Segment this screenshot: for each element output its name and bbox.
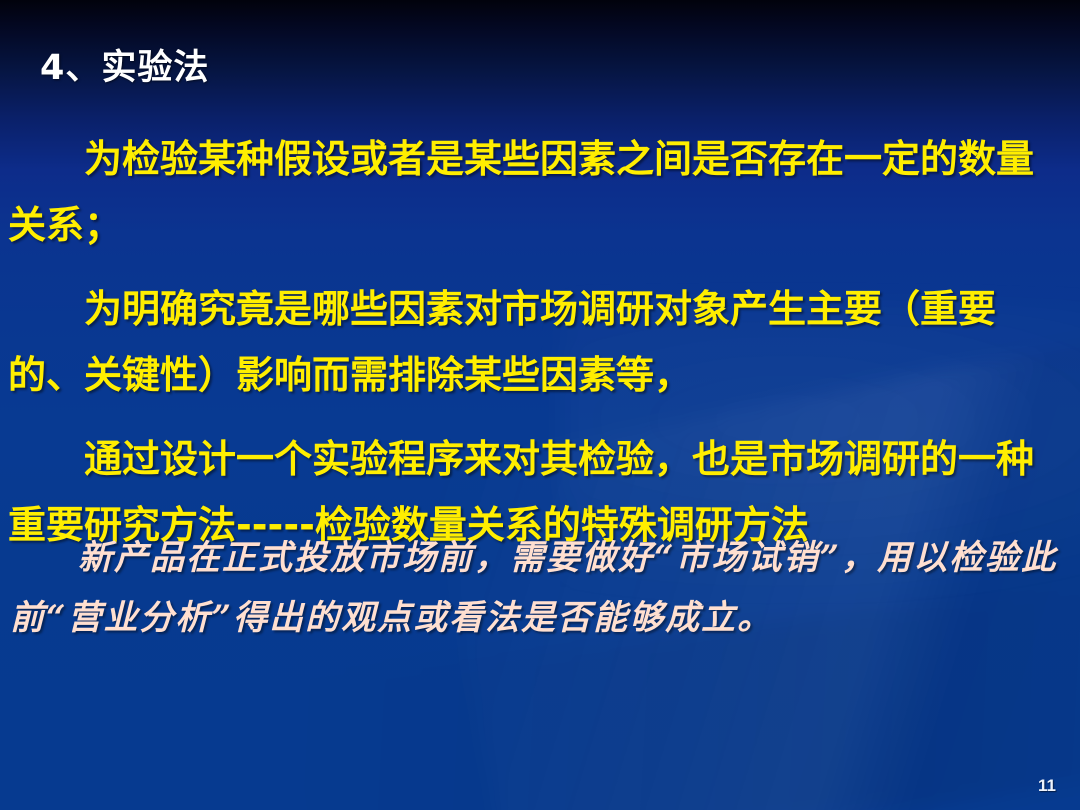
body-text-block: 为检验某种假设或者是某些因素之间是否存在一定的数量关系； 为明确究竟是哪些因素对… bbox=[8, 126, 1070, 558]
slide-content: 4、实验法 为检验某种假设或者是某些因素之间是否存在一定的数量关系； 为明确究竟… bbox=[0, 0, 1080, 810]
slide-title: 4、实验法 bbox=[40, 48, 209, 88]
note-paragraph: 新产品在正式投放市场前，需要做好“市场试销”，用以检验此前“营业分析”得出的观点… bbox=[10, 528, 1065, 648]
body-paragraph-1: 为检验某种假设或者是某些因素之间是否存在一定的数量关系； bbox=[8, 126, 1070, 258]
page-number: 11 bbox=[1038, 776, 1056, 796]
body-paragraph-2: 为明确究竟是哪些因素对市场调研对象产生主要（重要的、关键性）影响而需排除某些因素… bbox=[8, 276, 1070, 408]
slide-canvas: 4、实验法 为检验某种假设或者是某些因素之间是否存在一定的数量关系； 为明确究竟… bbox=[0, 0, 1080, 810]
